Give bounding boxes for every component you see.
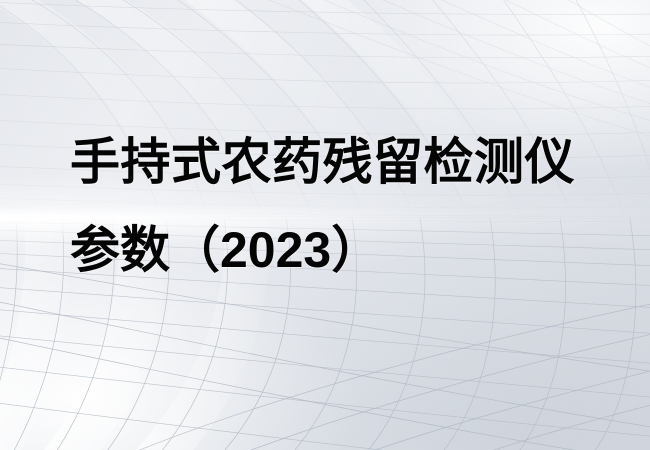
title-banner: 手持式农药残留检测仪 参数（2023） <box>0 0 650 450</box>
title-line-2: 参数（2023） <box>70 206 630 294</box>
title-line-1: 手持式农药残留检测仪 <box>70 118 630 206</box>
banner-title: 手持式农药残留检测仪 参数（2023） <box>70 118 630 294</box>
